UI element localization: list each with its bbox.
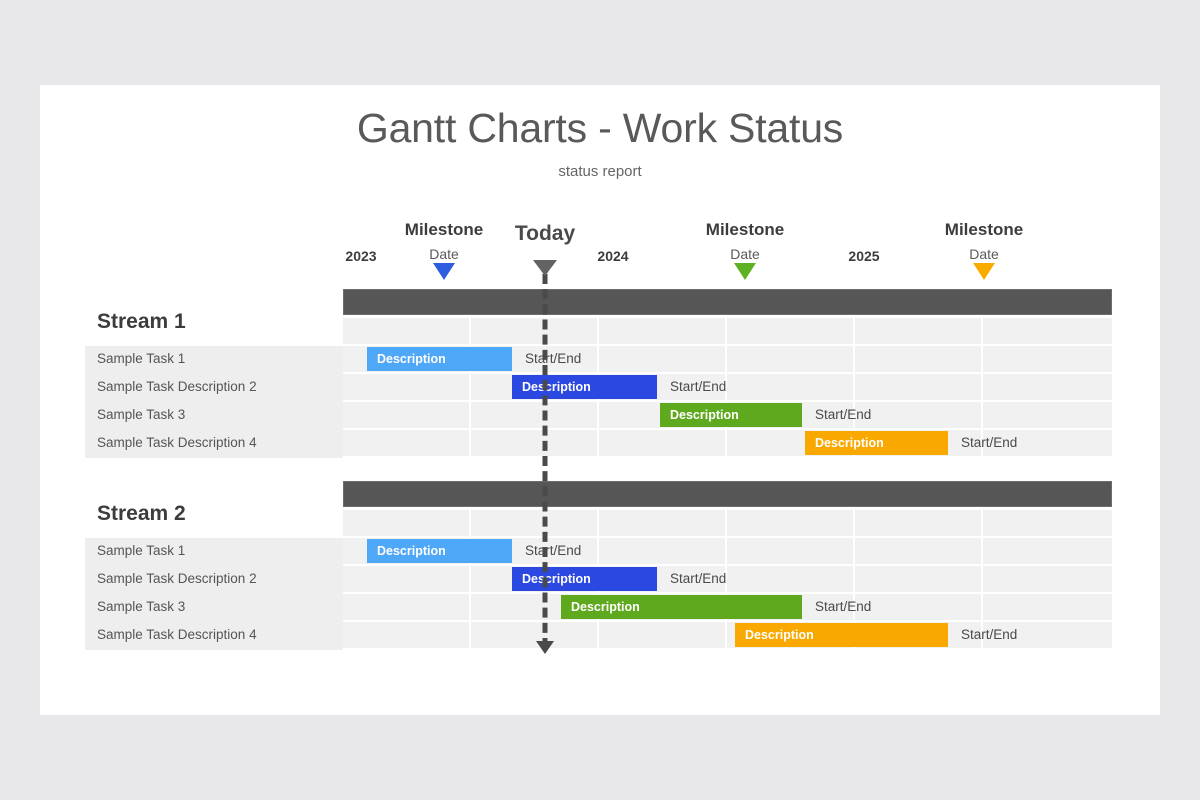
today-line <box>543 274 548 648</box>
milestone-date-1: Date <box>429 246 459 262</box>
milestone-title-2: Milestone <box>706 220 784 240</box>
milestone-marker-icon-2 <box>734 263 756 280</box>
today-arrowhead-icon <box>536 641 554 654</box>
today-label: Today <box>515 222 575 246</box>
today-marker-icon <box>533 260 557 276</box>
slide-canvas: Gantt Charts - Work Status status report… <box>40 85 1160 715</box>
milestone-title-1: Milestone <box>405 220 483 240</box>
milestone-date-3: Date <box>969 246 999 262</box>
milestone-title-3: Milestone <box>945 220 1023 240</box>
axis-year-label-2024: 2024 <box>597 248 628 264</box>
axis-year-label-2025: 2025 <box>848 248 879 264</box>
axis-year-label-2023: 2023 <box>345 248 376 264</box>
milestone-marker-icon-1 <box>433 263 455 280</box>
milestone-date-2: Date <box>730 246 760 262</box>
timeline-axis: 202320242025MilestoneDateMilestoneDateMi… <box>40 85 1160 715</box>
milestone-marker-icon-3 <box>973 263 995 280</box>
